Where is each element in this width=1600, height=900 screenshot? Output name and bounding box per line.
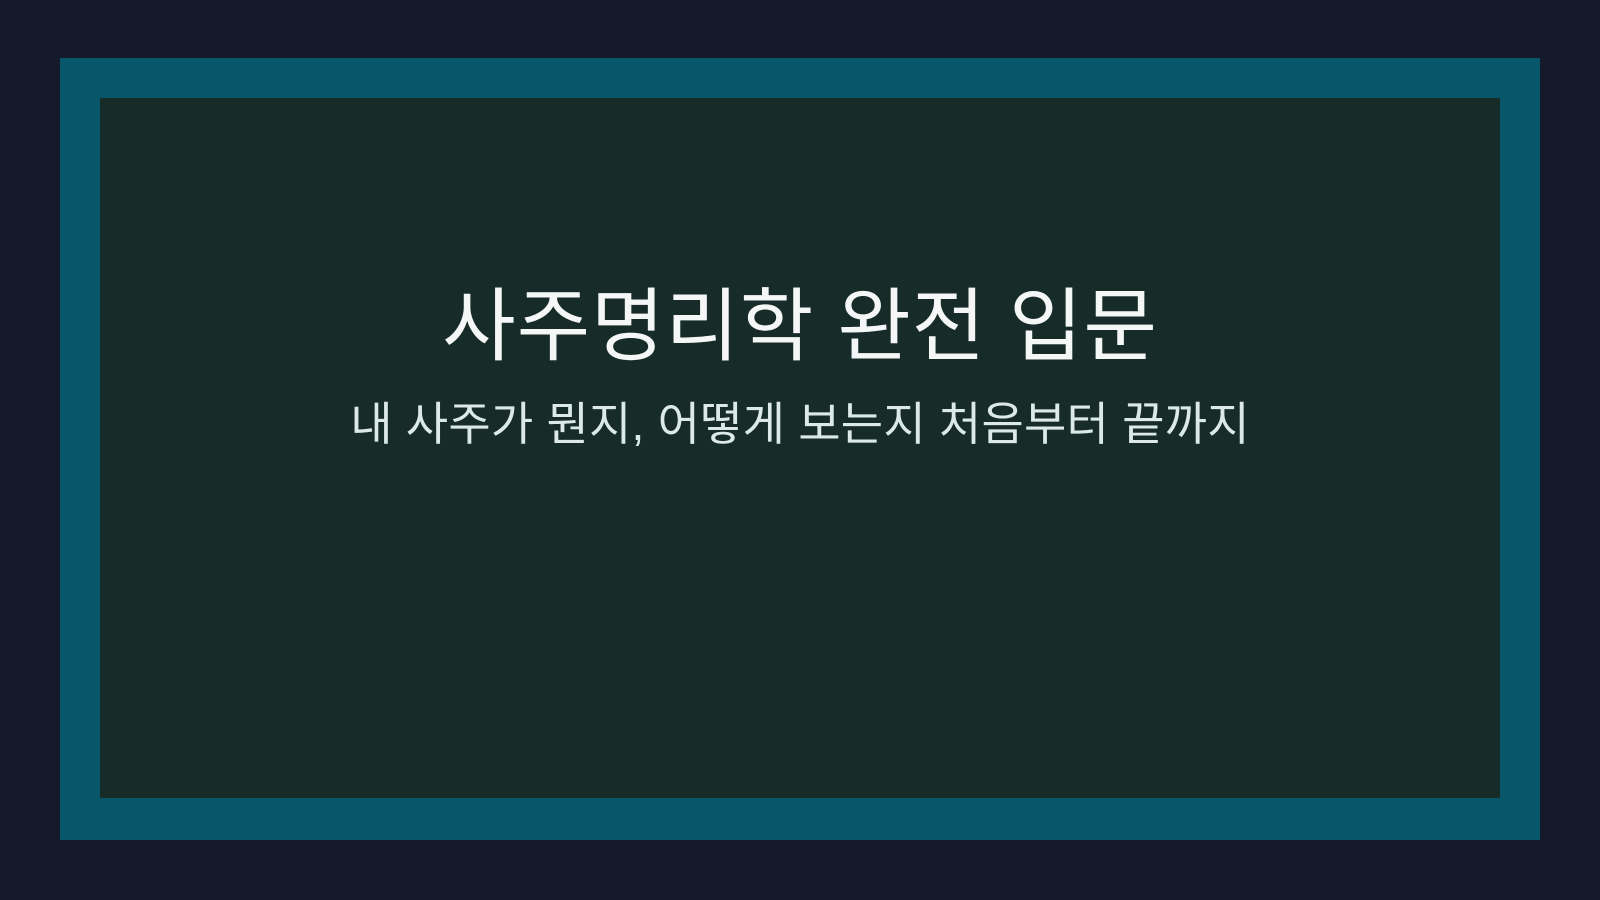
page-title: 사주명리학 완전 입문 bbox=[442, 280, 1158, 374]
slide-content-panel: 사주명리학 완전 입문 내 사주가 뭔지, 어떻게 보는지 처음부터 끝까지 bbox=[100, 98, 1500, 798]
title-text-block: 사주명리학 완전 입문 내 사주가 뭔지, 어떻게 보는지 처음부터 끝까지 bbox=[100, 280, 1500, 453]
title-slide: 사주명리학 완전 입문 내 사주가 뭔지, 어떻게 보는지 처음부터 끝까지 bbox=[0, 0, 1600, 900]
slide-frame-border: 사주명리학 완전 입문 내 사주가 뭔지, 어떻게 보는지 처음부터 끝까지 bbox=[60, 58, 1540, 840]
page-subtitle: 내 사주가 뭔지, 어떻게 보는지 처음부터 끝까지 bbox=[350, 396, 1250, 452]
